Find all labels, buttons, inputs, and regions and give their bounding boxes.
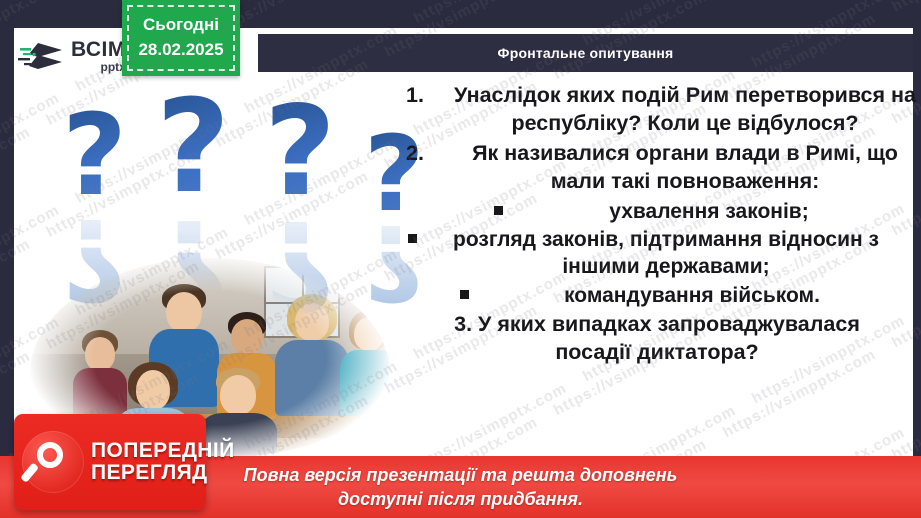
brand-logo: ВСІМ pptx [18,30,136,82]
sub-list-item: командування військом. [398,282,916,309]
list-item-text: Як називалися органи влади в Римі, що ма… [454,140,916,196]
sub-list-item: ухвалення законів; [398,198,916,225]
date-badge: Сьогодні 28.02.2025 [122,0,240,76]
sub-list-item: розгляд законів, підтримання відносин з … [398,226,916,281]
date-badge-value: 28.02.2025 [138,38,223,63]
logo-title: ВСІМ [71,39,126,60]
preview-badge-line2: ПЕРЕГЛЯД [91,462,235,484]
square-bullet-icon [408,234,420,245]
purchase-banner-line2: доступні після придбання. [338,487,583,511]
section-title: Фронтальне опитування [498,45,674,61]
question-marks-decoration: ? ? ? ? ? ? ? ? [52,84,392,284]
questions-list: 1. Унаслідок яких подій Рим перетворився… [398,82,916,367]
list-item: 2. Як називалися органи влади в Римі, що… [398,140,916,196]
list-item-text: Унаслідок яких подій Рим перетворився на… [454,82,916,138]
preview-badge-line1: ПОПЕРЕДНІЙ [91,440,235,462]
section-title-bar: Фронтальне опитування [258,34,913,72]
purchase-banner-line1: Повна версія презентації та решта доповн… [244,463,678,487]
preview-badge[interactable]: ПОПЕРЕДНІЙ ПЕРЕГЛЯД [14,414,206,510]
list-item-text: 3. У яких випадках запроваджувалася [398,311,916,339]
sub-list-item-text: розгляд законів, підтримання відносин з … [420,226,916,281]
square-bullet-icon [494,206,506,217]
date-badge-label: Сьогодні [143,13,219,38]
square-bullet-icon [460,290,472,301]
list-item-number: 1. [398,82,454,138]
sub-list-item-text: командування військом. [472,282,916,309]
frame-left-strip [0,0,14,518]
slide-root: ВСІМ pptx Сьогодні 28.02.2025 Фронтальне… [0,0,921,518]
logo-subtitle: pptx [71,61,126,73]
graduation-cap-icon [18,36,68,76]
sub-list-item-text: ухвалення законів; [506,198,916,225]
magnifier-icon [22,431,84,493]
list-item: 1. Унаслідок яких подій Рим перетворився… [398,82,916,138]
list-item-number: 2. [398,140,454,196]
list-item-text-occluded: посадії диктатора? [398,339,916,367]
